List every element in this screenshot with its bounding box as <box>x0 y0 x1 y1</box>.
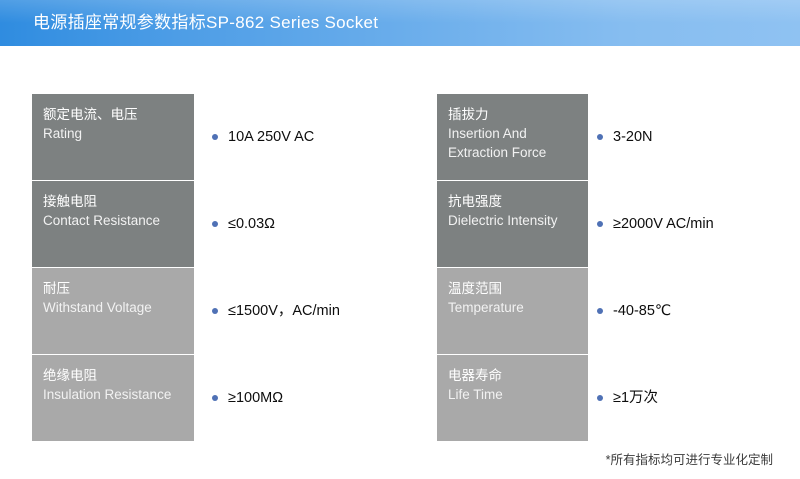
spec-label-dielectric-intensity: 抗电强度 Dielectric Intensity <box>437 181 588 267</box>
spec-label-en: Insulation Resistance <box>43 385 185 404</box>
bullet-icon <box>597 308 603 314</box>
spec-label-cn: 绝缘电阻 <box>43 366 185 385</box>
spec-label-life-time: 电器寿命 Life Time <box>437 355 588 441</box>
spec-label-insertion-extraction-force: 插拔力 Insertion And Extraction Force <box>437 94 588 180</box>
spec-label-rating: 额定电流、电压 Rating <box>32 94 194 180</box>
spec-row: 额定电流、电压 Rating 10A 250V AC <box>32 94 402 180</box>
spec-value-text: ≤0.03Ω <box>228 215 275 234</box>
spec-column-left: 额定电流、电压 Rating 10A 250V AC 接触电阻 Contact … <box>32 94 402 442</box>
spec-value-insulation-resistance: ≥100MΩ <box>212 355 402 441</box>
spec-value-text: ≤1500V，AC/min <box>228 302 340 321</box>
spec-value-contact-resistance: ≤0.03Ω <box>212 181 402 267</box>
spec-row: 抗电强度 Dielectric Intensity ≥2000V AC/min <box>437 181 800 267</box>
footnote-text: *所有指标均可进行专业化定制 <box>606 452 773 468</box>
spec-label-insulation-resistance: 绝缘电阻 Insulation Resistance <box>32 355 194 441</box>
spec-label-cn: 额定电流、电压 <box>43 105 185 124</box>
spec-label-en: Life Time <box>448 385 579 404</box>
spec-row: 耐压 Withstand Voltage ≤1500V，AC/min <box>32 268 402 354</box>
spec-label-cn: 电器寿命 <box>448 366 579 385</box>
bullet-icon <box>597 221 603 227</box>
spec-value-text: ≥1万次 <box>613 389 658 408</box>
spec-value-text: 3-20N <box>613 128 653 147</box>
spec-label-cn: 耐压 <box>43 279 185 298</box>
header-banner: 电源插座常规参数指标SP-862 Series Socket <box>0 0 800 46</box>
slide-canvas: 电源插座常规参数指标SP-862 Series Socket 额定电流、电压 R… <box>0 0 800 479</box>
spec-row: 插拔力 Insertion And Extraction Force 3-20N <box>437 94 800 180</box>
spec-table: 额定电流、电压 Rating 10A 250V AC 接触电阻 Contact … <box>0 94 800 442</box>
bullet-icon <box>212 395 218 401</box>
bullet-icon <box>597 395 603 401</box>
page-title: 电源插座常规参数指标SP-862 Series Socket <box>33 12 378 34</box>
spec-value-temperature: -40-85℃ <box>597 268 800 354</box>
spec-value-withstand-voltage: ≤1500V，AC/min <box>212 268 402 354</box>
spec-label-withstand-voltage: 耐压 Withstand Voltage <box>32 268 194 354</box>
bullet-icon <box>212 221 218 227</box>
bullet-icon <box>212 134 218 140</box>
spec-row: 接触电阻 Contact Resistance ≤0.03Ω <box>32 181 402 267</box>
spec-value-text: -40-85℃ <box>613 302 671 321</box>
spec-row: 温度范围 Temperature -40-85℃ <box>437 268 800 354</box>
spec-value-text: ≥100MΩ <box>228 389 283 408</box>
spec-value-text: ≥2000V AC/min <box>613 215 714 234</box>
spec-label-en: Dielectric Intensity <box>448 211 579 230</box>
spec-label-en: Contact Resistance <box>43 211 185 230</box>
spec-value-insertion-extraction-force: 3-20N <box>597 94 800 180</box>
spec-label-cn: 温度范围 <box>448 279 579 298</box>
spec-label-en: Rating <box>43 124 185 143</box>
spec-label-en: Temperature <box>448 298 579 317</box>
spec-label-cn: 接触电阻 <box>43 192 185 211</box>
spec-value-dielectric-intensity: ≥2000V AC/min <box>597 181 800 267</box>
spec-label-en: Insertion And Extraction Force <box>448 124 579 162</box>
spec-label-cn: 插拔力 <box>448 105 579 124</box>
bullet-icon <box>597 134 603 140</box>
spec-value-rating: 10A 250V AC <box>212 94 402 180</box>
spec-column-right: 插拔力 Insertion And Extraction Force 3-20N… <box>437 94 800 442</box>
spec-value-text: 10A 250V AC <box>228 128 314 147</box>
bullet-icon <box>212 308 218 314</box>
spec-value-life-time: ≥1万次 <box>597 355 800 441</box>
spec-label-contact-resistance: 接触电阻 Contact Resistance <box>32 181 194 267</box>
spec-label-en: Withstand Voltage <box>43 298 185 317</box>
spec-row: 绝缘电阻 Insulation Resistance ≥100MΩ <box>32 355 402 441</box>
spec-label-cn: 抗电强度 <box>448 192 579 211</box>
spec-label-temperature: 温度范围 Temperature <box>437 268 588 354</box>
spec-row: 电器寿命 Life Time ≥1万次 <box>437 355 800 441</box>
